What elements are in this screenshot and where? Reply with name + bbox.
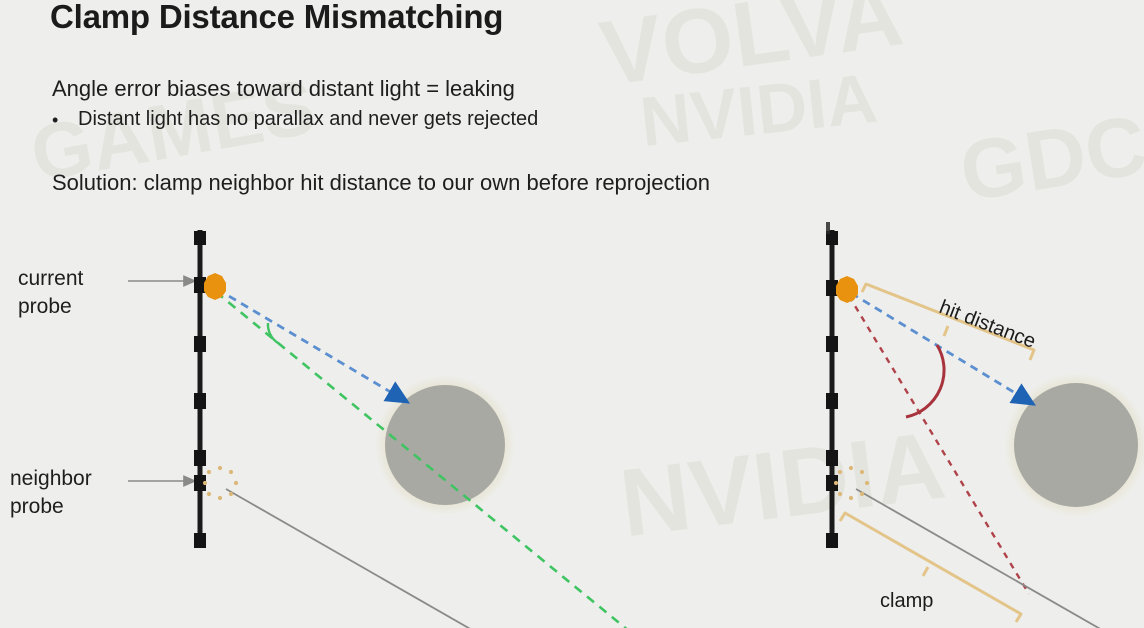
current-probe-label-2: probe bbox=[18, 295, 72, 318]
clamp-angle-arc bbox=[906, 345, 944, 417]
wall-tick bbox=[194, 336, 206, 352]
cursor-artifact bbox=[826, 222, 830, 234]
neighbor-probe-marker bbox=[834, 466, 869, 500]
wall-tick bbox=[194, 231, 206, 245]
slide-root: VOLVA NVIDIA GAMES NVIDIA GDC Clamp Dist… bbox=[0, 0, 1144, 628]
wall-tick bbox=[194, 450, 206, 466]
wall-tick bbox=[826, 533, 838, 548]
wall-tick bbox=[194, 393, 206, 409]
current-probe-label: current bbox=[18, 267, 84, 290]
angle-error-arc bbox=[268, 323, 278, 343]
clamp-bracket-tick bbox=[923, 567, 928, 576]
current-probe-marker bbox=[836, 276, 858, 303]
wall-tick bbox=[826, 450, 838, 466]
wall-tick bbox=[826, 336, 838, 352]
right-diagram: hit distance clamp bbox=[826, 230, 1144, 628]
wall-tick bbox=[194, 533, 206, 548]
neighbor-probe-label-2: probe bbox=[10, 495, 64, 518]
hit-distance-bracket-tick bbox=[944, 326, 948, 336]
clamp-label: clamp bbox=[880, 590, 933, 612]
hit-distance-label: hit distance bbox=[936, 296, 1038, 353]
neighbor-probe-marker bbox=[203, 466, 238, 500]
wall-tick bbox=[826, 393, 838, 409]
blue-true-ray bbox=[217, 289, 399, 397]
neighbor-probe-label: neighbor bbox=[10, 467, 92, 490]
occluder-sphere bbox=[1014, 383, 1138, 507]
diagrams-layer: current probe neighbor probe bbox=[0, 0, 1144, 628]
left-diagram: current probe neighbor probe bbox=[10, 230, 640, 628]
